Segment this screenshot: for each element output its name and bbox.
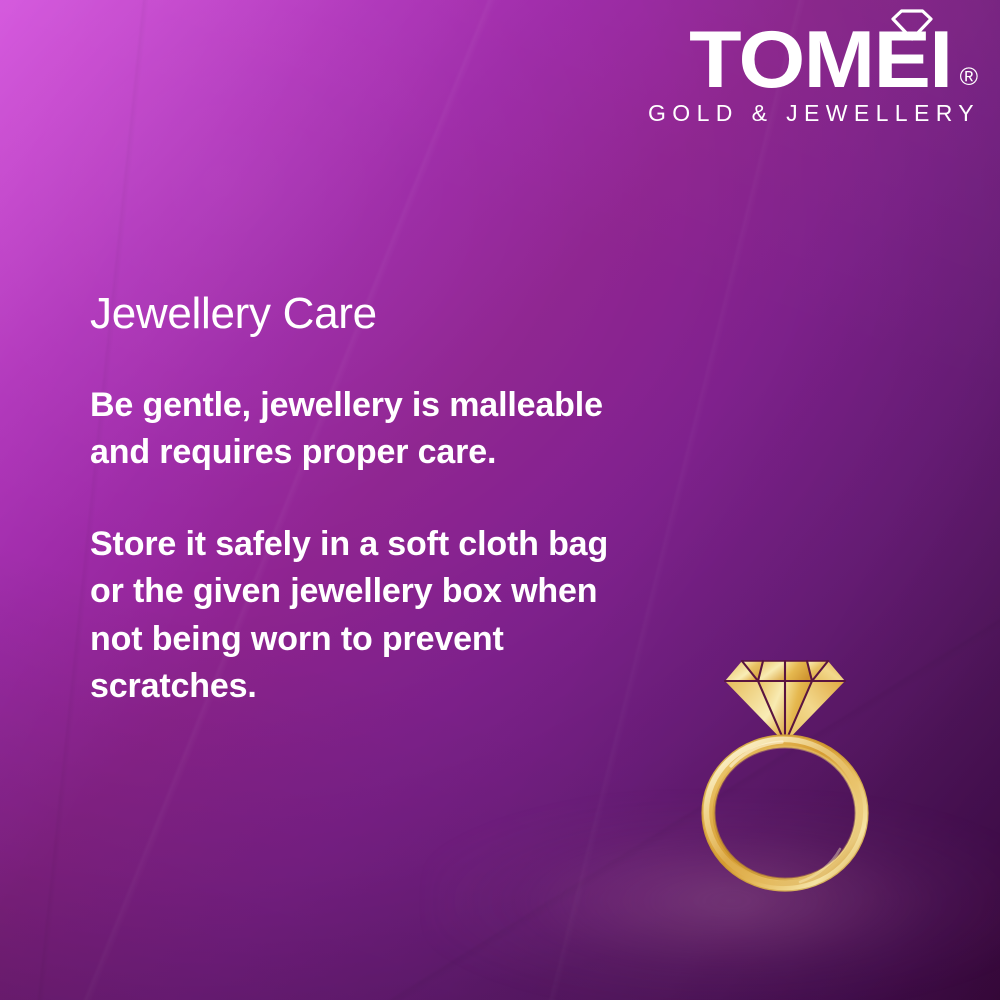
care-paragraph-2: Store it safely in a soft cloth bag or t… [90, 521, 650, 711]
diamond-ring-illustration [690, 635, 880, 895]
ring-band-icon [702, 735, 868, 891]
diamond-gem-icon [725, 661, 845, 743]
brand-logo: TOMEI ® GOLD & JEWELLERY [648, 16, 978, 127]
care-paragraph-1: Be gentle, jewellery is malleable and re… [90, 382, 650, 477]
logo-wordmark-text: TOMEI [689, 26, 951, 96]
page-title: Jewellery Care [90, 290, 690, 338]
poster-canvas: TOMEI ® GOLD & JEWELLERY Jewellery Care … [0, 0, 1000, 1000]
registered-trademark-icon: ® [960, 65, 978, 90]
logo-wordmark-row: TOMEI ® [648, 16, 978, 96]
copy-block: Jewellery Care Be gentle, jewellery is m… [90, 290, 690, 711]
